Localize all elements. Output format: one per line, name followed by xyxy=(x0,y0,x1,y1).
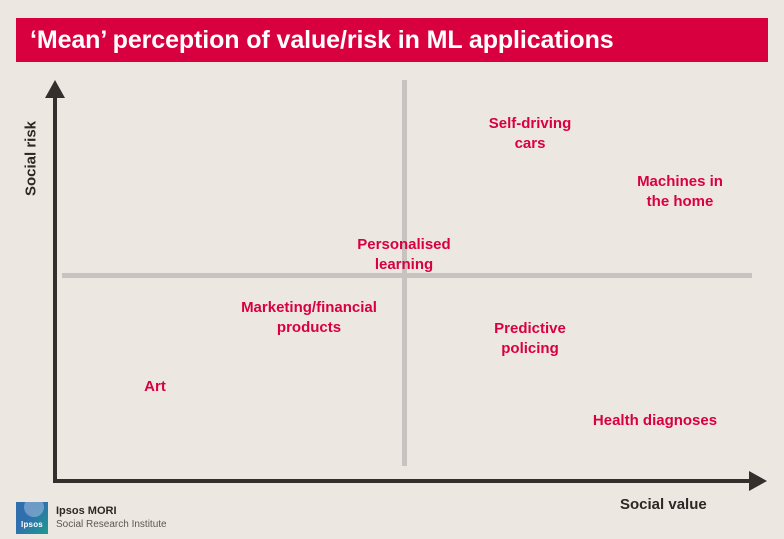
data-label-predictive-policing: Predictive policing xyxy=(455,319,605,360)
ipsos-logo-icon: Ipsos xyxy=(16,502,48,534)
data-label-art: Art xyxy=(115,377,195,397)
logo-brand-name: Ipsos MORI xyxy=(56,505,167,519)
data-label-marketing-financial-products: Marketing/financial products xyxy=(209,298,409,339)
y-axis-arrow-icon xyxy=(45,80,65,98)
logo-circle-shape xyxy=(24,502,44,517)
y-axis-title: Social risk xyxy=(23,104,40,214)
logo-wordmark: Ipsos MORI Social Research Institute xyxy=(56,505,167,531)
data-label-personalised-learning: Personalised learning xyxy=(328,235,480,276)
slide-canvas: ‘Mean’ perception of value/risk in ML ap… xyxy=(0,0,784,539)
page-title: ‘Mean’ perception of value/risk in ML ap… xyxy=(16,26,614,55)
x-axis-title: Social value xyxy=(620,496,707,513)
data-label-self-driving-cars: Self-driving cars xyxy=(455,114,605,155)
y-axis-line xyxy=(53,96,57,483)
x-axis-line xyxy=(53,479,753,483)
title-banner: ‘Mean’ perception of value/risk in ML ap… xyxy=(16,18,768,62)
data-label-machines-in-the-home: Machines in the home xyxy=(600,172,760,213)
logo-mark-text: Ipsos xyxy=(16,520,48,529)
x-axis-arrow-icon xyxy=(749,471,767,491)
logo-tagline: Social Research Institute xyxy=(56,519,167,532)
data-label-health-diagnoses: Health diagnoses xyxy=(565,411,745,431)
ipsos-mori-logo: Ipsos Ipsos MORI Social Research Institu… xyxy=(16,502,167,534)
